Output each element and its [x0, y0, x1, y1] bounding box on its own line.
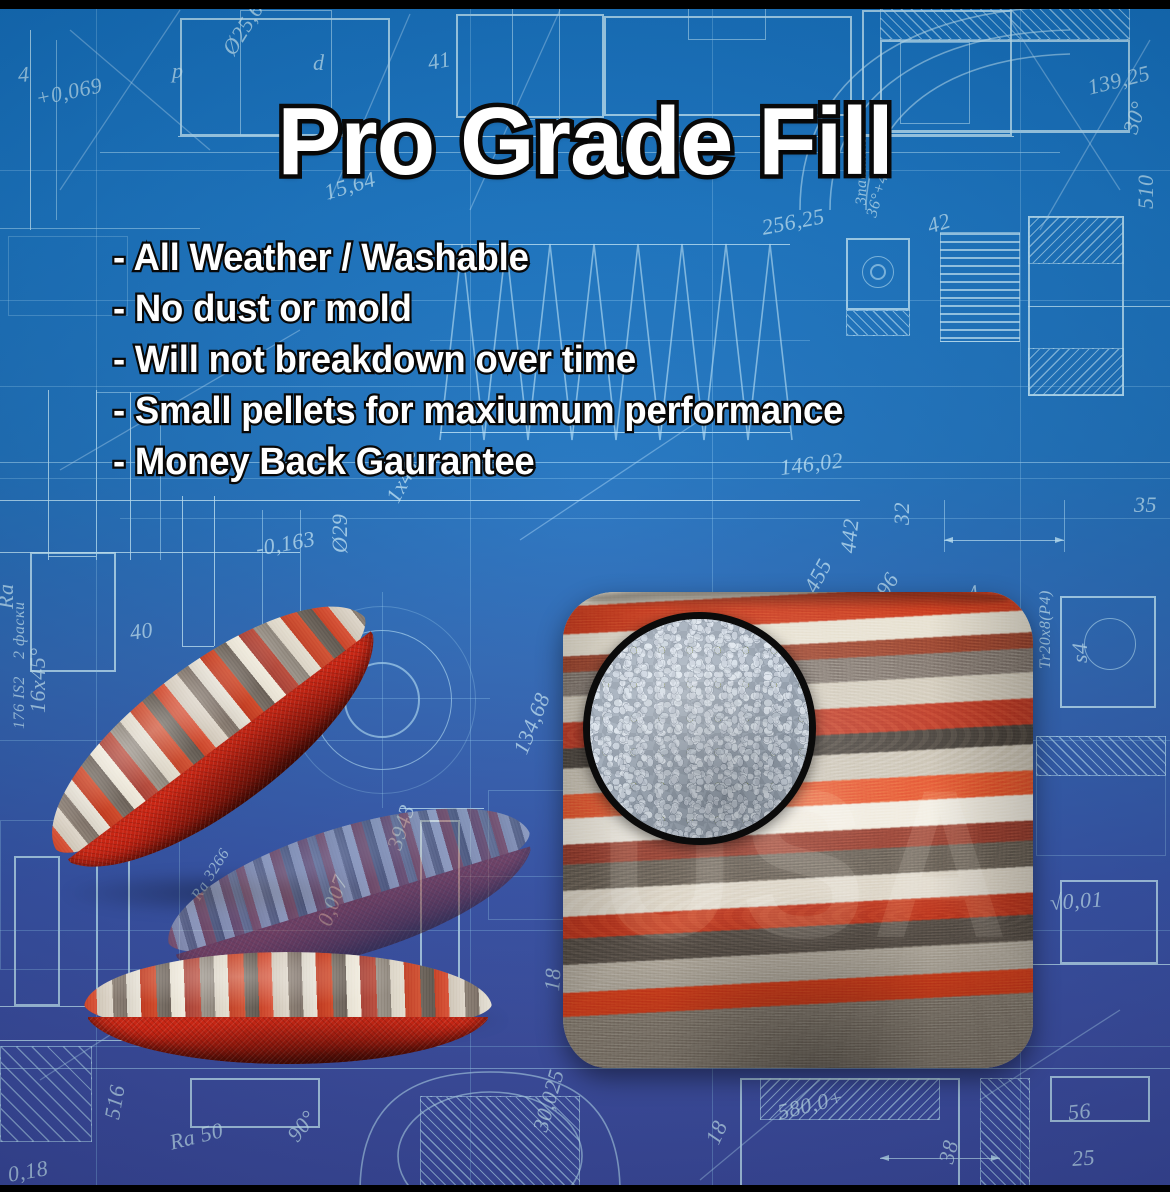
bottom-letterbox-bar [0, 1185, 1170, 1192]
blueprint-dimension-label: p [172, 58, 184, 84]
blueprint-dimension-label: 56 [1067, 1098, 1093, 1126]
blueprint-dimension-label: Tr20x8(P4) [1037, 590, 1055, 669]
feature-list-item: - No dust or mold [113, 284, 996, 335]
feature-list-item: - Will not breakdown over time [113, 335, 996, 386]
blueprint-dimension-label: 4 [17, 61, 30, 88]
blueprint-dimension-label: Ø29 [327, 514, 353, 553]
top-letterbox-bar [0, 0, 1170, 9]
feature-list-item: - Small pellets for maxiumum performance [113, 386, 996, 437]
feature-list-item: - Money Back Gaurantee [113, 437, 996, 488]
page-title: Pro Grade Fill [0, 94, 1170, 190]
feature-list: - All Weather / Washable- No dust or mol… [113, 233, 1033, 488]
blueprint-dimension-label: d [313, 50, 325, 76]
blueprint-dimension-label: Ra [0, 584, 19, 609]
cornhole-bag-flat-bottom [84, 952, 492, 1064]
pellet-magnifier [583, 612, 816, 845]
blueprint-dimension-label: 32 [889, 502, 915, 525]
blueprint-dimension-label: 35 [1134, 492, 1157, 518]
blueprint-dimension-label: 25 [1071, 1144, 1096, 1172]
blueprint-dimension-label: ѕ4 [1067, 642, 1093, 663]
blueprint-dimension-label: 41 [426, 46, 453, 76]
blueprint-dimension-label: √0,01 [1049, 886, 1104, 916]
promo-poster: +0,069pd41Ø25,615,64139,2530°256,2536°+4… [0, 0, 1170, 1192]
feature-list-item: - All Weather / Washable [113, 233, 996, 284]
blueprint-dimension-label: 442 [835, 517, 864, 554]
pellet-grain-layer2 [583, 612, 816, 845]
